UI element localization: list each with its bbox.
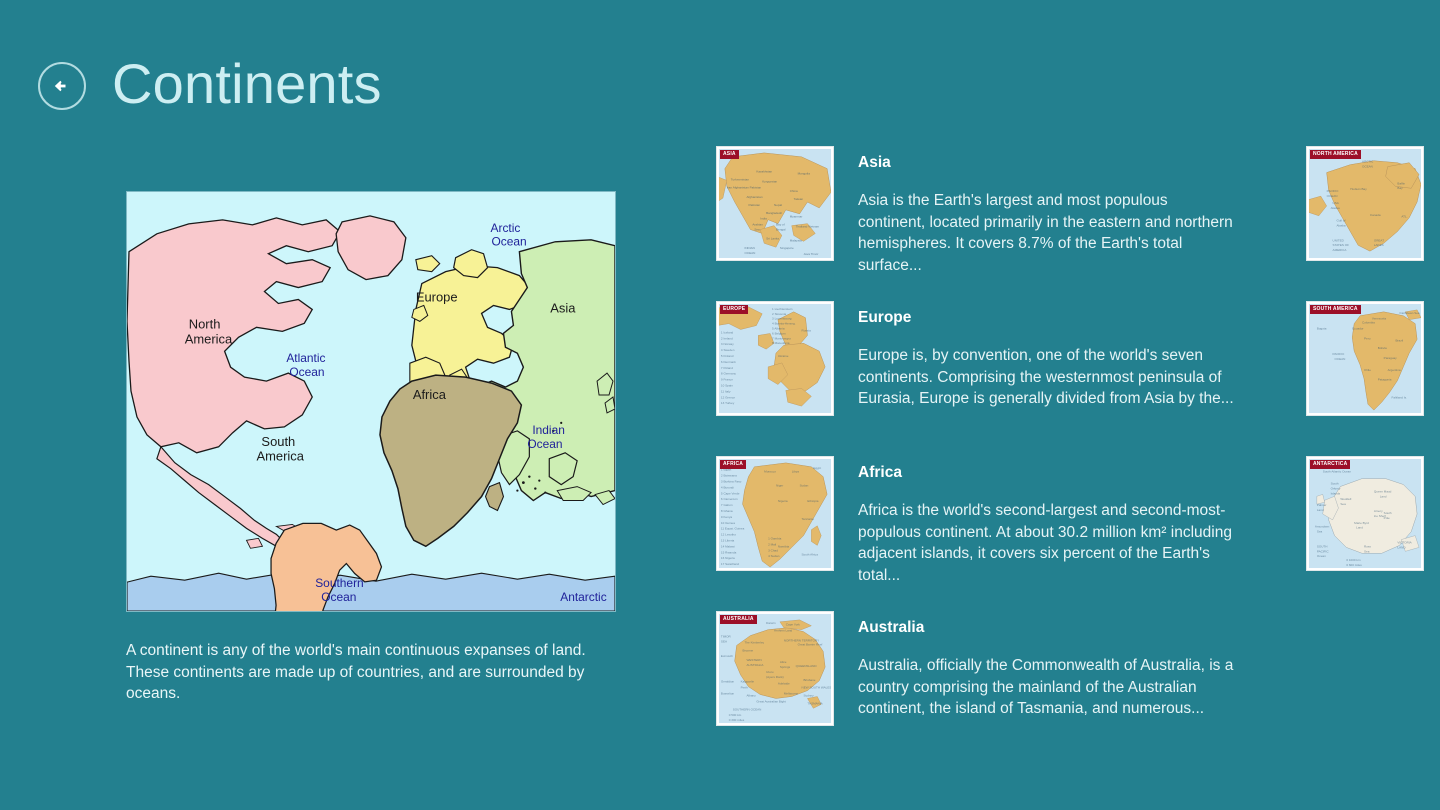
svg-text:Ethiopia: Ethiopia xyxy=(807,499,818,503)
svg-text:Europe: Europe xyxy=(416,289,458,304)
svg-text:SOUTH: SOUTH xyxy=(1317,544,1328,548)
svg-text:0 500 km: 0 500 km xyxy=(729,713,742,717)
svg-text:10 Guinea: 10 Guinea xyxy=(721,521,735,525)
svg-text:0 300 miles: 0 300 miles xyxy=(729,718,745,722)
svg-text:Bangladesh: Bangladesh xyxy=(766,211,782,215)
thumbnail-label: AUSTRALIA xyxy=(720,615,757,624)
svg-text:3 Luxembourg: 3 Luxembourg xyxy=(772,317,792,321)
list-item-north-america[interactable]: ARCTIC OCEAN Baffin Bay PACIFIC OCEAN Hu… xyxy=(1306,146,1440,301)
svg-text:Antarctic: Antarctic xyxy=(560,590,606,604)
list-item-asia[interactable]: Kazakhstan Mongolia Turkmenistan Kyrgyzs… xyxy=(716,146,1236,301)
svg-text:(Ayers Rock): (Ayers Rock) xyxy=(766,675,783,679)
page-header: Continents xyxy=(38,58,382,114)
svg-text:Bay: Bay xyxy=(1397,186,1403,190)
svg-text:11 Italy: 11 Italy xyxy=(721,389,731,393)
overview-panel: Arctic Ocean North America Atlantic Ocea… xyxy=(126,191,616,705)
svg-text:Bay of: Bay of xyxy=(776,223,785,227)
svg-text:Exmouth: Exmouth xyxy=(721,654,733,658)
svg-text:Nepal: Nepal xyxy=(774,203,782,207)
svg-text:4 Sweden: 4 Sweden xyxy=(721,348,735,352)
svg-text:Ecuador: Ecuador xyxy=(1352,327,1363,331)
svg-text:SEA: SEA xyxy=(721,639,728,643)
svg-text:Land: Land xyxy=(1380,494,1387,498)
svg-text:11 Equat. Guinea: 11 Equat. Guinea xyxy=(721,527,745,531)
svg-text:13 Turkey: 13 Turkey xyxy=(721,401,735,405)
svg-text:Queen Maud: Queen Maud xyxy=(1374,489,1392,493)
item-description: Asia is the Earth's largest and most pop… xyxy=(858,190,1236,276)
svg-text:Russia: Russia xyxy=(802,328,812,332)
svg-text:2 Ireland: 2 Ireland xyxy=(721,336,733,340)
svg-text:WESTERN: WESTERN xyxy=(746,658,761,662)
svg-text:4 Sudan: 4 Sudan xyxy=(768,554,780,558)
svg-text:China: China xyxy=(790,189,798,193)
svg-text:Ocean: Ocean xyxy=(321,590,356,604)
svg-text:Canada: Canada xyxy=(1370,213,1381,217)
svg-text:6 Belgium: 6 Belgium xyxy=(772,331,786,335)
thumbnail-label: EUROPE xyxy=(720,305,748,314)
svg-text:Tanzania: Tanzania xyxy=(802,517,814,521)
svg-text:Paraguay: Paraguay xyxy=(1384,356,1397,360)
svg-text:Marie Byrd: Marie Byrd xyxy=(1354,521,1369,525)
svg-text:8 Ghana: 8 Ghana xyxy=(721,509,733,513)
world-map-image: Arctic Ocean North America Atlantic Ocea… xyxy=(126,191,616,612)
svg-text:Java Timor: Java Timor xyxy=(804,252,819,256)
svg-text:2 Botswana: 2 Botswana xyxy=(721,474,737,478)
svg-text:Ross: Ross xyxy=(1364,544,1371,548)
svg-text:15 Rwanda: 15 Rwanda xyxy=(721,550,737,554)
svg-text:Singapore: Singapore xyxy=(780,246,794,250)
svg-text:Pakistan: Pakistan xyxy=(748,203,760,207)
svg-text:TIMOR: TIMOR xyxy=(721,635,732,639)
svg-text:Malaysia: Malaysia xyxy=(790,238,802,242)
svg-text:9 France: 9 France xyxy=(721,378,733,382)
thumbnail-label: AFRICA xyxy=(720,460,746,469)
svg-text:2 Mali: 2 Mali xyxy=(768,542,776,546)
svg-text:6 Denmark: 6 Denmark xyxy=(721,360,736,364)
item-title: Europe xyxy=(858,309,1236,327)
item-description: Australia, officially the Commonwealth o… xyxy=(858,655,1236,720)
svg-text:Sea: Sea xyxy=(1364,549,1370,553)
svg-text:Amery: Amery xyxy=(1374,509,1383,513)
svg-text:Bolivia: Bolivia xyxy=(1378,346,1387,350)
svg-text:Ukraine: Ukraine xyxy=(778,354,789,358)
svg-text:OCEAN: OCEAN xyxy=(745,251,756,255)
svg-text:GREAT: GREAT xyxy=(1374,238,1384,242)
svg-text:ATL.: ATL. xyxy=(1401,215,1407,219)
svg-text:Egypt: Egypt xyxy=(813,466,821,470)
svg-text:South: South xyxy=(1331,482,1339,486)
svg-text:Indian: Indian xyxy=(532,423,565,437)
svg-text:Perth: Perth xyxy=(741,686,749,690)
svg-text:Falkland Is.: Falkland Is. xyxy=(1392,395,1408,399)
svg-text:Kazakhstan: Kazakhstan xyxy=(756,170,772,174)
svg-text:10 Spain: 10 Spain xyxy=(721,384,733,388)
svg-text:Orkney: Orkney xyxy=(1331,486,1341,490)
svg-text:India: India xyxy=(760,217,767,221)
svg-text:PACIFIC: PACIFIC xyxy=(1333,352,1346,356)
svg-text:Alaska: Alaska xyxy=(1336,224,1345,228)
svg-text:Africa: Africa xyxy=(413,387,447,402)
svg-text:Adelaide: Adelaide xyxy=(778,682,790,686)
svg-text:Namibia: Namibia xyxy=(778,544,789,548)
svg-text:Arnhem Land: Arnhem Land xyxy=(774,629,793,633)
svg-text:PACIFIC: PACIFIC xyxy=(1327,189,1340,193)
svg-text:Colombia: Colombia xyxy=(1362,321,1375,325)
svg-text:Land: Land xyxy=(1317,508,1324,512)
svg-text:Sea: Sea xyxy=(754,228,760,232)
svg-text:Chile: Chile xyxy=(1364,368,1371,372)
svg-text:Busselton: Busselton xyxy=(721,692,735,696)
svg-text:Melbourne: Melbourne xyxy=(784,692,799,696)
svg-text:13 Liberia: 13 Liberia xyxy=(721,539,735,543)
item-description: Africa is the world's second-largest and… xyxy=(858,500,1236,586)
thumbnail-label: SOUTH AMERICA xyxy=(1310,305,1361,314)
svg-text:Sudan: Sudan xyxy=(800,483,809,487)
svg-text:OCEAN: OCEAN xyxy=(1327,194,1338,198)
svg-text:Ocean: Ocean xyxy=(492,235,527,249)
svg-text:Nigeria: Nigeria xyxy=(778,499,788,503)
svg-text:NEW SOUTH WALES: NEW SOUTH WALES xyxy=(802,686,832,690)
svg-text:South: South xyxy=(261,434,295,449)
svg-text:Cape York: Cape York xyxy=(786,623,800,627)
svg-text:1 Gambia: 1 Gambia xyxy=(768,537,781,541)
svg-text:South: South xyxy=(1384,511,1392,515)
svg-text:USA: USA xyxy=(1333,201,1340,205)
svg-text:Sea: Sea xyxy=(1317,530,1323,534)
svg-text:Peru: Peru xyxy=(1364,336,1371,340)
svg-text:12 Greece: 12 Greece xyxy=(721,395,735,399)
svg-text:AMERICA: AMERICA xyxy=(1333,248,1348,252)
svg-text:Taiwan: Taiwan xyxy=(794,197,804,201)
svg-text:Weddell: Weddell xyxy=(1340,497,1351,501)
svg-text:North: North xyxy=(189,316,221,331)
svg-text:Brazil: Brazil xyxy=(1395,338,1403,342)
svg-text:7 Montenegro: 7 Montenegro xyxy=(772,336,791,340)
svg-text:Niger: Niger xyxy=(776,483,783,487)
svg-text:TASMANIA: TASMANIA xyxy=(807,701,823,705)
svg-text:4 Burundi: 4 Burundi xyxy=(721,485,734,489)
thumbnail-label: ASIA xyxy=(720,150,739,159)
svg-text:16 Nigeria: 16 Nigeria xyxy=(721,556,735,560)
svg-text:OCEAN: OCEAN xyxy=(1362,165,1373,169)
overview-description: A continent is any of the world's main c… xyxy=(126,640,601,705)
item-title: Asia xyxy=(858,154,1236,172)
item-title: Australia xyxy=(858,619,1236,637)
svg-text:Atlantic: Atlantic xyxy=(286,351,325,365)
svg-text:PACIFIC: PACIFIC xyxy=(1317,549,1330,553)
svg-text:Darwin: Darwin xyxy=(766,621,776,625)
svg-text:Alaska: Alaska xyxy=(1331,206,1340,210)
svg-text:1 Liechtenstein: 1 Liechtenstein xyxy=(772,307,793,311)
thumbnail-label: ANTARCTICA xyxy=(1310,460,1350,469)
svg-text:Palmer: Palmer xyxy=(1317,503,1327,507)
svg-text:Libya: Libya xyxy=(792,470,800,474)
svg-text:Geraldton: Geraldton xyxy=(721,680,735,684)
svg-text:Albany: Albany xyxy=(746,694,756,698)
svg-text:7 Gabon: 7 Gabon xyxy=(721,503,733,507)
svg-text:Kalgoorlie: Kalgoorlie xyxy=(741,680,755,684)
thumbnail-north-america: ARCTIC OCEAN Baffin Bay PACIFIC OCEAN Hu… xyxy=(1306,146,1424,261)
thumbnail-label: NORTH AMERICA xyxy=(1310,150,1361,159)
thumbnail-antarctica: South Atlantic Ocean South Orkney Island… xyxy=(1306,456,1424,571)
svg-text:Sri Lanka: Sri Lanka xyxy=(766,236,779,240)
svg-text:0 1000 km: 0 1000 km xyxy=(1346,558,1361,562)
thumbnail-europe: 1 Liechtenstein 2 Slovenia 3 Luxembourg … xyxy=(716,301,834,416)
svg-text:Asia: Asia xyxy=(550,300,576,315)
list-item-australia[interactable]: Darwin Cape York Arnhem Land TIMOR SEA T… xyxy=(716,611,1236,766)
svg-text:Thailand Vietnam: Thailand Vietnam xyxy=(796,225,820,229)
svg-text:3 Chad: 3 Chad xyxy=(768,548,778,552)
svg-text:Bogota: Bogota xyxy=(1317,327,1327,331)
svg-text:2 Slovenia: 2 Slovenia xyxy=(772,312,786,316)
svg-text:Sea: Sea xyxy=(1340,502,1346,506)
svg-text:5 Finland: 5 Finland xyxy=(721,354,734,358)
svg-text:Ocean: Ocean xyxy=(1317,554,1326,558)
svg-text:Springs: Springs xyxy=(780,665,791,669)
item-title: Africa xyxy=(858,464,1236,482)
svg-text:America: America xyxy=(256,449,304,464)
svg-text:Amundsen: Amundsen xyxy=(1315,525,1330,529)
svg-text:VICTORIA: VICTORIA xyxy=(1397,540,1412,544)
svg-text:12 Lesotho: 12 Lesotho xyxy=(721,533,736,537)
svg-text:8 Macedonia: 8 Macedonia xyxy=(772,341,790,345)
svg-text:6 Cameroon: 6 Cameroon xyxy=(721,497,738,501)
svg-text:Land: Land xyxy=(1356,526,1363,530)
svg-text:Alice: Alice xyxy=(780,660,787,664)
svg-text:NORTHERN TERRITORY: NORTHERN TERRITORY xyxy=(784,638,819,642)
svg-text:America: America xyxy=(185,331,233,346)
svg-text:7 Poland: 7 Poland xyxy=(721,366,733,370)
svg-text:Arctic: Arctic xyxy=(491,221,521,235)
svg-text:3 Norway: 3 Norway xyxy=(721,342,734,346)
svg-text:LAND: LAND xyxy=(1397,545,1406,549)
svg-text:Brisbane: Brisbane xyxy=(804,678,816,682)
svg-text:3 Burkina Faso: 3 Burkina Faso xyxy=(721,480,742,484)
svg-text:The Kimberley: The Kimberley xyxy=(745,640,765,644)
page-title: Continents xyxy=(112,56,382,112)
svg-text:Southern: Southern xyxy=(315,576,363,590)
thumbnail-south-america: Caribbean Sea Venezuela Colombia Bogota … xyxy=(1306,301,1424,416)
svg-text:Morocco: Morocco xyxy=(764,470,776,474)
list-item-antarctica[interactable]: South Atlantic Ocean South Orkney Island… xyxy=(1306,456,1440,611)
svg-text:South Africa: South Africa xyxy=(802,552,819,556)
svg-text:0 600 miles: 0 600 miles xyxy=(1346,563,1362,567)
svg-text:Turkmenistan: Turkmenistan xyxy=(731,177,750,181)
svg-text:5 Cape Verde: 5 Cape Verde xyxy=(721,491,740,495)
svg-text:Great Australian Bight: Great Australian Bight xyxy=(756,699,786,703)
svg-text:SOUTHERN OCEAN: SOUTHERN OCEAN xyxy=(733,707,762,711)
svg-text:9 Kenya: 9 Kenya xyxy=(721,515,732,519)
svg-text:Afghanistan: Afghanistan xyxy=(746,195,762,199)
svg-text:LAKES: LAKES xyxy=(1374,243,1384,247)
svg-text:Arabian: Arabian xyxy=(752,223,763,227)
svg-text:Caribbean Sea: Caribbean Sea xyxy=(1399,311,1420,315)
svg-text:Pole: Pole xyxy=(1384,516,1390,520)
svg-text:Patagonia: Patagonia xyxy=(1378,378,1392,382)
svg-text:Uluru: Uluru xyxy=(766,670,774,674)
svg-text:South Atlantic Ocean: South Atlantic Ocean xyxy=(1323,470,1352,474)
svg-text:Argentina: Argentina xyxy=(1388,368,1401,372)
thumbnail-asia: Kazakhstan Mongolia Turkmenistan Kyrgyzs… xyxy=(716,146,834,261)
back-button[interactable] xyxy=(38,62,86,110)
svg-text:1 Iceland: 1 Iceland xyxy=(721,330,734,334)
svg-text:Ocean: Ocean xyxy=(527,437,562,451)
svg-text:QUEENSLAND: QUEENSLAND xyxy=(796,664,818,668)
svg-text:ARCTIC: ARCTIC xyxy=(1362,160,1374,164)
svg-text:OCEAN: OCEAN xyxy=(1335,357,1346,361)
svg-text:4 Bosnia-Herzeg.: 4 Bosnia-Herzeg. xyxy=(772,322,796,326)
svg-text:Great Barrier Reef: Great Barrier Reef xyxy=(798,642,823,646)
svg-text:Iran Afghanistan Pakistan: Iran Afghanistan Pakistan xyxy=(727,185,762,189)
svg-text:Islands: Islands xyxy=(1331,491,1341,495)
svg-text:14 Malawi: 14 Malawi xyxy=(721,544,735,548)
svg-text:Hudson Bay: Hudson Bay xyxy=(1350,187,1367,191)
svg-text:AUSTRALIA: AUSTRALIA xyxy=(746,663,764,667)
svg-text:Mongolia: Mongolia xyxy=(798,172,811,176)
svg-text:Myanmar: Myanmar xyxy=(790,215,803,219)
list-item-europe[interactable]: 1 Liechtenstein 2 Slovenia 3 Luxembourg … xyxy=(716,301,1236,456)
back-arrow-icon xyxy=(49,73,75,99)
svg-text:UNITED: UNITED xyxy=(1333,238,1345,242)
svg-text:Bengal: Bengal xyxy=(776,228,786,232)
svg-text:INDIAN: INDIAN xyxy=(745,246,755,250)
svg-text:Kyrgyzstan: Kyrgyzstan xyxy=(762,179,777,183)
svg-text:5 Albania: 5 Albania xyxy=(772,327,785,331)
continents-list: Kazakhstan Mongolia Turkmenistan Kyrgyzs… xyxy=(716,146,1440,766)
list-item-africa[interactable]: 1 Egypt 2 Botswana 3 Burkina Faso 4 Buru… xyxy=(716,456,1236,611)
item-description: Europe is, by convention, one of the wor… xyxy=(858,345,1236,410)
thumbnail-australia: Darwin Cape York Arnhem Land TIMOR SEA T… xyxy=(716,611,834,726)
svg-text:Broome: Broome xyxy=(743,648,754,652)
svg-text:STATES OF: STATES OF xyxy=(1333,243,1350,247)
thumbnail-africa: 1 Egypt 2 Botswana 3 Burkina Faso 4 Buru… xyxy=(716,456,834,571)
svg-text:Baffin: Baffin xyxy=(1397,181,1405,185)
list-item-south-america[interactable]: Caribbean Sea Venezuela Colombia Bogota … xyxy=(1306,301,1440,456)
svg-text:Gulf of: Gulf of xyxy=(1336,219,1345,223)
svg-text:Ocean: Ocean xyxy=(289,365,324,379)
svg-text:8 Germany: 8 Germany xyxy=(721,372,736,376)
svg-text:17 Swaziland: 17 Swaziland xyxy=(721,562,739,566)
svg-text:Sydney: Sydney xyxy=(804,694,815,698)
